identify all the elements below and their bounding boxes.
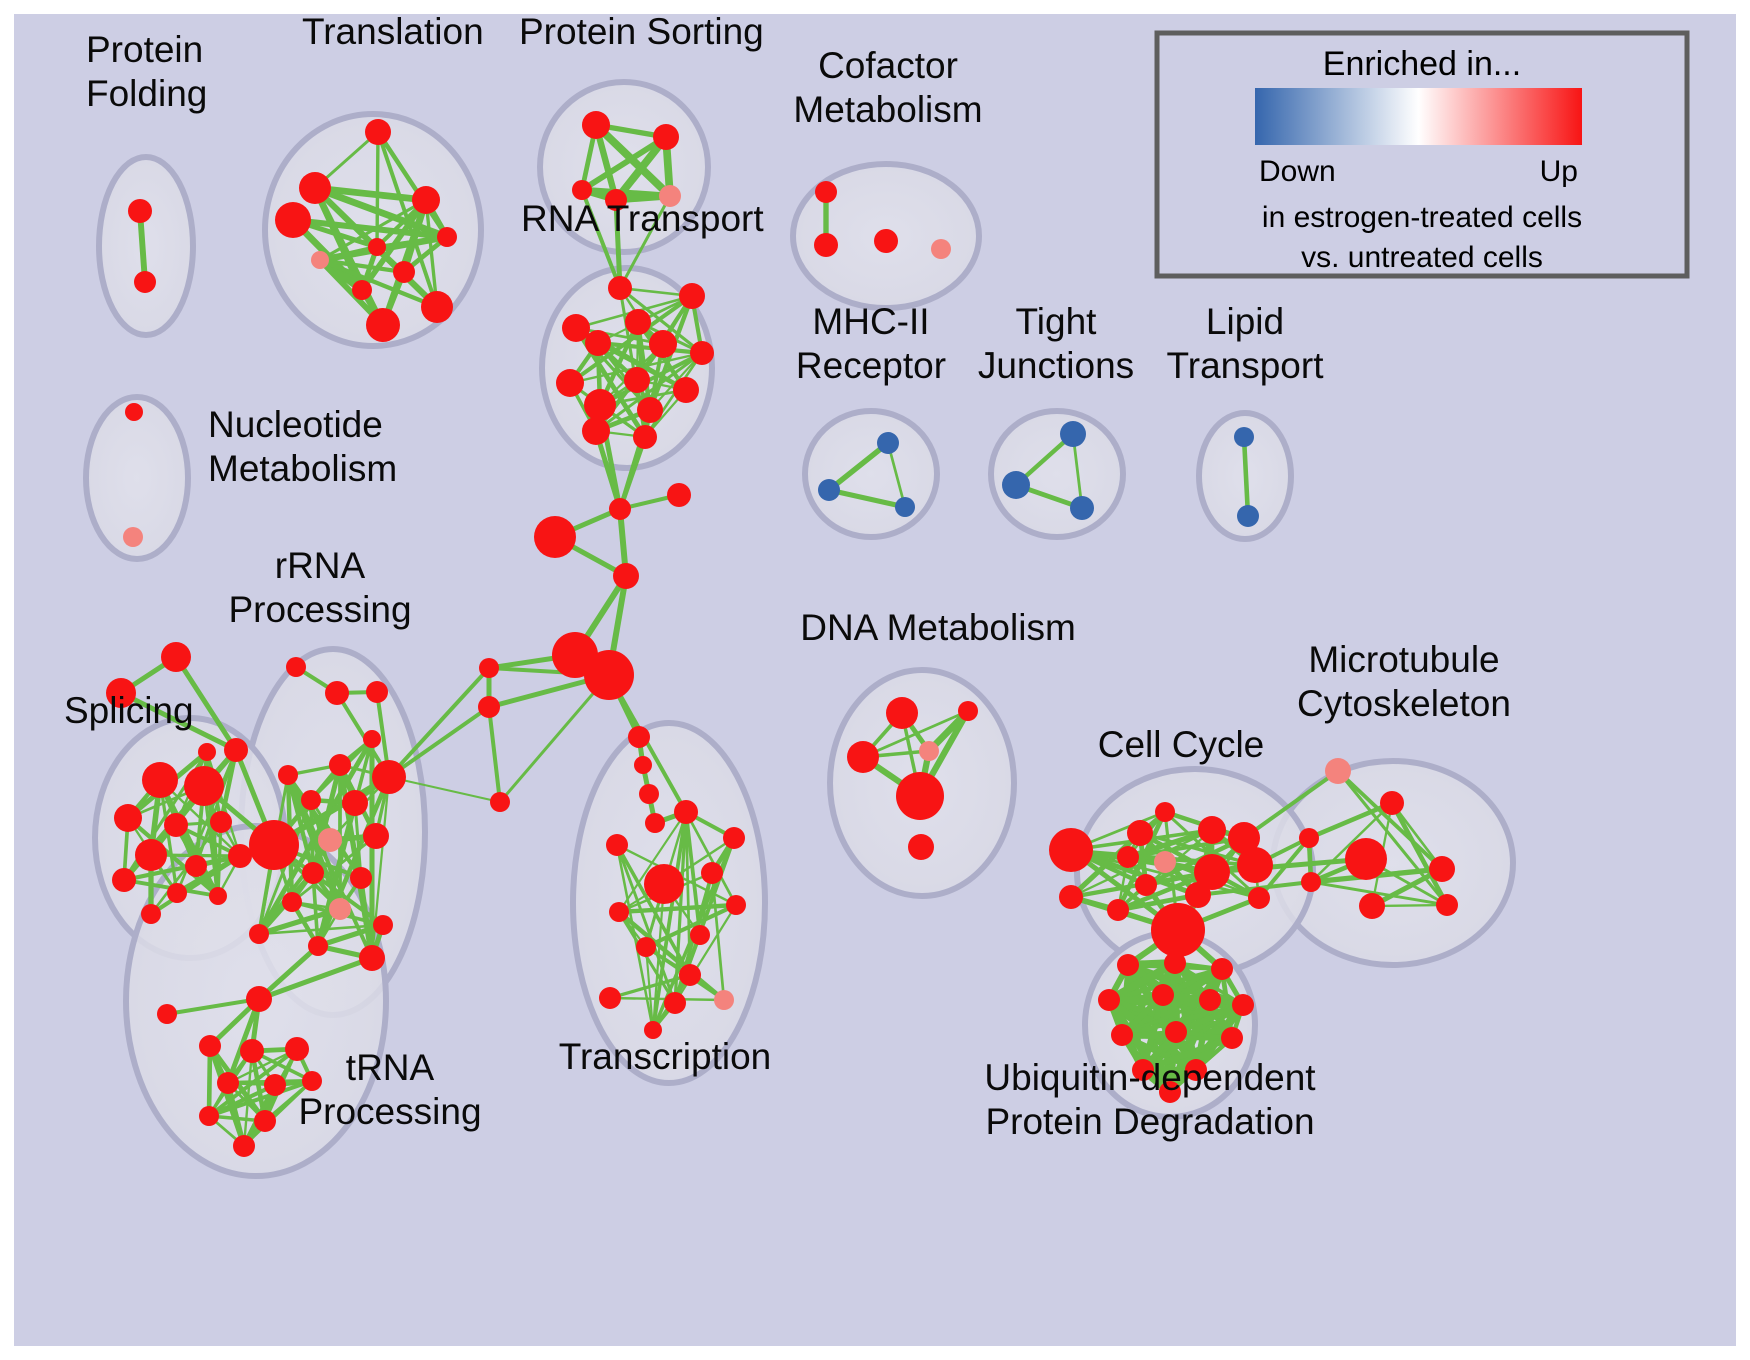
gene-set-node[interactable] <box>366 681 388 703</box>
cluster-label-dna-metabolism: DNA Metabolism <box>800 607 1076 648</box>
gene-set-node[interactable] <box>1152 984 1174 1006</box>
gene-set-node[interactable] <box>701 862 723 884</box>
gene-set-node[interactable] <box>366 308 400 342</box>
gene-set-node[interactable] <box>135 839 167 871</box>
gene-set-node[interactable] <box>877 432 899 454</box>
gene-set-node[interactable] <box>1380 791 1404 815</box>
gene-set-node[interactable] <box>534 516 576 558</box>
gene-set-node[interactable] <box>679 964 701 986</box>
gene-set-node[interactable] <box>184 766 224 806</box>
gene-set-node[interactable] <box>1002 471 1030 499</box>
gene-set-node[interactable] <box>886 697 918 729</box>
gene-set-node[interactable] <box>723 827 745 849</box>
gene-set-node[interactable] <box>372 760 406 794</box>
legend-title: Enriched in... <box>1323 45 1521 83</box>
gene-set-node[interactable] <box>636 937 656 957</box>
cluster-label-translation: Translation <box>302 11 484 52</box>
gene-set-node[interactable] <box>352 280 372 300</box>
gene-set-node[interactable] <box>562 314 590 342</box>
legend-caption-line-2: vs. untreated cells <box>1301 241 1543 274</box>
gene-set-node[interactable] <box>584 650 634 700</box>
gene-set-node[interactable] <box>1164 952 1186 974</box>
gene-set-node[interactable] <box>585 330 611 356</box>
gene-set-node[interactable] <box>128 199 152 223</box>
gene-set-node[interactable] <box>895 497 915 517</box>
gene-set-node[interactable] <box>1198 816 1226 844</box>
gene-set-node[interactable] <box>818 479 840 501</box>
gene-set-node[interactable] <box>308 936 328 956</box>
legend-caption-line-1: in estrogen-treated cells <box>1262 201 1582 234</box>
gene-set-node[interactable] <box>667 483 691 507</box>
gene-set-node[interactable] <box>199 1106 219 1126</box>
gene-set-node[interactable] <box>240 1039 264 1063</box>
gene-set-node[interactable] <box>690 341 714 365</box>
gene-set-node[interactable] <box>490 792 510 812</box>
gene-set-node[interactable] <box>301 790 321 810</box>
gene-set-node[interactable] <box>1111 1024 1133 1046</box>
gene-set-node[interactable] <box>363 823 389 849</box>
gene-set-node[interactable] <box>639 784 659 804</box>
gene-set-node[interactable] <box>199 1035 221 1057</box>
legend-group: Enriched in...DownUpin estrogen-treated … <box>1157 33 1687 276</box>
gene-set-node[interactable] <box>141 904 161 924</box>
gene-set-node[interactable] <box>217 1072 239 1094</box>
gene-set-node[interactable] <box>606 834 628 856</box>
gene-set-node[interactable] <box>599 987 621 1009</box>
gene-set-node[interactable] <box>1429 856 1455 882</box>
gene-set-node[interactable] <box>478 696 500 718</box>
gene-set-node[interactable] <box>1345 838 1387 880</box>
gene-set-node[interactable] <box>673 377 699 403</box>
gene-set-node[interactable] <box>286 657 306 677</box>
gene-set-node[interactable] <box>653 124 679 150</box>
gene-set-node[interactable] <box>1151 903 1205 957</box>
cluster-hull-mhc-ii-receptor <box>805 411 937 537</box>
gene-set-node[interactable] <box>167 883 187 903</box>
gene-set-node[interactable] <box>1301 872 1321 892</box>
gene-set-node[interactable] <box>437 227 457 247</box>
gene-set-node[interactable] <box>342 790 368 816</box>
gene-set-node[interactable] <box>908 834 934 860</box>
gene-set-node[interactable] <box>633 425 657 449</box>
gene-set-node[interactable] <box>1135 874 1157 896</box>
enrichment-map-figure: ProteinFoldingTranslationProtein Sorting… <box>0 0 1750 1360</box>
gene-set-node[interactable] <box>1211 958 1233 980</box>
gene-set-node[interactable] <box>302 862 324 884</box>
gene-set-node[interactable] <box>634 756 652 774</box>
gene-set-node[interactable] <box>1165 1021 1187 1043</box>
gene-set-node[interactable] <box>1299 828 1319 848</box>
gene-set-node[interactable] <box>161 642 191 672</box>
gene-set-node[interactable] <box>1155 802 1175 822</box>
gene-set-node[interactable] <box>613 563 639 589</box>
gene-set-node[interactable] <box>628 726 650 748</box>
gene-set-node[interactable] <box>278 765 298 785</box>
gene-set-node[interactable] <box>919 741 939 761</box>
gene-set-node[interactable] <box>1117 954 1139 976</box>
gene-set-node[interactable] <box>625 309 651 335</box>
gene-set-node[interactable] <box>164 813 188 837</box>
gene-set-node[interactable] <box>664 992 686 1014</box>
gene-set-node[interactable] <box>1359 893 1385 919</box>
gene-set-node[interactable] <box>198 743 216 761</box>
gene-set-node[interactable] <box>210 811 232 833</box>
cluster-hull-protein-folding <box>99 157 193 335</box>
gene-set-node[interactable] <box>209 887 227 905</box>
gene-set-node[interactable] <box>582 111 610 139</box>
cluster-label-protein-sorting: Protein Sorting <box>519 11 764 52</box>
gene-set-node[interactable] <box>393 261 415 283</box>
gene-set-node[interactable] <box>134 271 156 293</box>
gene-set-node[interactable] <box>479 658 499 678</box>
gene-set-node[interactable] <box>1237 505 1259 527</box>
gene-set-node[interactable] <box>275 202 311 238</box>
gene-set-node[interactable] <box>299 172 331 204</box>
gene-set-node[interactable] <box>609 498 631 520</box>
gene-set-node[interactable] <box>556 369 584 397</box>
gene-set-node[interactable] <box>1117 846 1139 868</box>
gene-set-node[interactable] <box>1154 851 1176 873</box>
gene-set-node[interactable] <box>1325 758 1351 784</box>
gene-set-node[interactable] <box>582 417 610 445</box>
gene-set-node[interactable] <box>1098 989 1120 1011</box>
gene-set-node[interactable] <box>228 844 252 868</box>
gene-set-node[interactable] <box>125 403 143 421</box>
gene-set-node[interactable] <box>637 397 663 423</box>
gene-set-node[interactable] <box>1070 496 1094 520</box>
cluster-label-rna-transport: RNA Transport <box>521 198 764 239</box>
gene-set-node[interactable] <box>421 291 453 323</box>
gene-set-node[interactable] <box>329 754 351 776</box>
gene-set-node[interactable] <box>264 1074 286 1096</box>
gene-set-node[interactable] <box>412 186 440 214</box>
gene-set-node[interactable] <box>958 701 978 721</box>
gene-set-node[interactable] <box>1127 820 1153 846</box>
gene-set-node[interactable] <box>1436 894 1458 916</box>
gene-set-node[interactable] <box>365 119 391 145</box>
gene-set-node[interactable] <box>325 681 349 705</box>
gene-set-node[interactable] <box>1232 994 1254 1016</box>
gene-set-node[interactable] <box>645 813 665 833</box>
gene-set-node[interactable] <box>311 251 329 269</box>
gene-set-node[interactable] <box>847 741 879 773</box>
gene-set-node[interactable] <box>931 239 951 259</box>
gene-set-node[interactable] <box>815 181 837 203</box>
gene-set-node[interactable] <box>302 1071 322 1091</box>
gene-set-node[interactable] <box>185 855 207 877</box>
gene-set-node[interactable] <box>1248 887 1270 909</box>
gene-set-node[interactable] <box>318 828 342 852</box>
gene-set-node[interactable] <box>112 868 136 892</box>
cluster-label-cell-cycle: Cell Cycle <box>1098 724 1265 765</box>
gene-set-node[interactable] <box>157 1004 177 1024</box>
gene-set-node[interactable] <box>246 986 272 1012</box>
gene-set-node[interactable] <box>233 1135 255 1157</box>
gene-set-node[interactable] <box>373 915 393 935</box>
gene-set-node[interactable] <box>1199 989 1221 1011</box>
gene-set-node[interactable] <box>1234 427 1254 447</box>
gene-set-node[interactable] <box>1107 899 1129 921</box>
gene-set-node[interactable] <box>368 238 386 256</box>
legend-up-label: Up <box>1540 155 1578 188</box>
legend-down-label: Down <box>1259 155 1336 188</box>
gene-set-node[interactable] <box>679 283 705 309</box>
gene-set-node[interactable] <box>814 233 838 257</box>
gene-set-node[interactable] <box>714 990 734 1010</box>
gene-set-node[interactable] <box>726 895 746 915</box>
gene-set-node[interactable] <box>674 800 698 824</box>
gene-set-node[interactable] <box>123 527 143 547</box>
gene-set-node[interactable] <box>874 229 898 253</box>
gene-set-node[interactable] <box>1049 828 1093 872</box>
gene-set-node[interactable] <box>1221 1027 1243 1049</box>
cluster-label-splicing: Splicing <box>64 690 194 731</box>
gene-set-node[interactable] <box>896 772 944 820</box>
gene-set-node[interactable] <box>114 804 142 832</box>
legend-color-bar <box>1255 88 1582 145</box>
gene-set-node[interactable] <box>249 820 299 870</box>
gene-set-node[interactable] <box>644 864 684 904</box>
gene-set-node[interactable] <box>282 892 302 912</box>
gene-set-node[interactable] <box>649 330 677 358</box>
gene-set-node[interactable] <box>329 898 351 920</box>
gene-set-node[interactable] <box>609 902 629 922</box>
gene-set-node[interactable] <box>254 1110 276 1132</box>
gene-set-node[interactable] <box>363 730 381 748</box>
gene-set-node[interactable] <box>359 945 385 971</box>
gene-set-node[interactable] <box>690 925 710 945</box>
gene-set-node[interactable] <box>1060 421 1086 447</box>
gene-set-node[interactable] <box>350 867 372 889</box>
gene-set-node[interactable] <box>1237 847 1273 883</box>
gene-set-node[interactable] <box>584 389 616 421</box>
gene-set-node[interactable] <box>1059 885 1083 909</box>
gene-set-node[interactable] <box>142 762 178 798</box>
network-canvas: ProteinFoldingTranslationProtein Sorting… <box>0 0 1750 1360</box>
gene-set-node[interactable] <box>1185 882 1211 908</box>
gene-set-node[interactable] <box>608 276 632 300</box>
gene-set-node[interactable] <box>624 367 650 393</box>
gene-set-node[interactable] <box>249 924 269 944</box>
gene-set-node[interactable] <box>572 180 592 200</box>
cluster-label-transcription: Transcription <box>559 1036 771 1077</box>
gene-set-node[interactable] <box>224 738 248 762</box>
gene-set-node[interactable] <box>285 1037 309 1061</box>
